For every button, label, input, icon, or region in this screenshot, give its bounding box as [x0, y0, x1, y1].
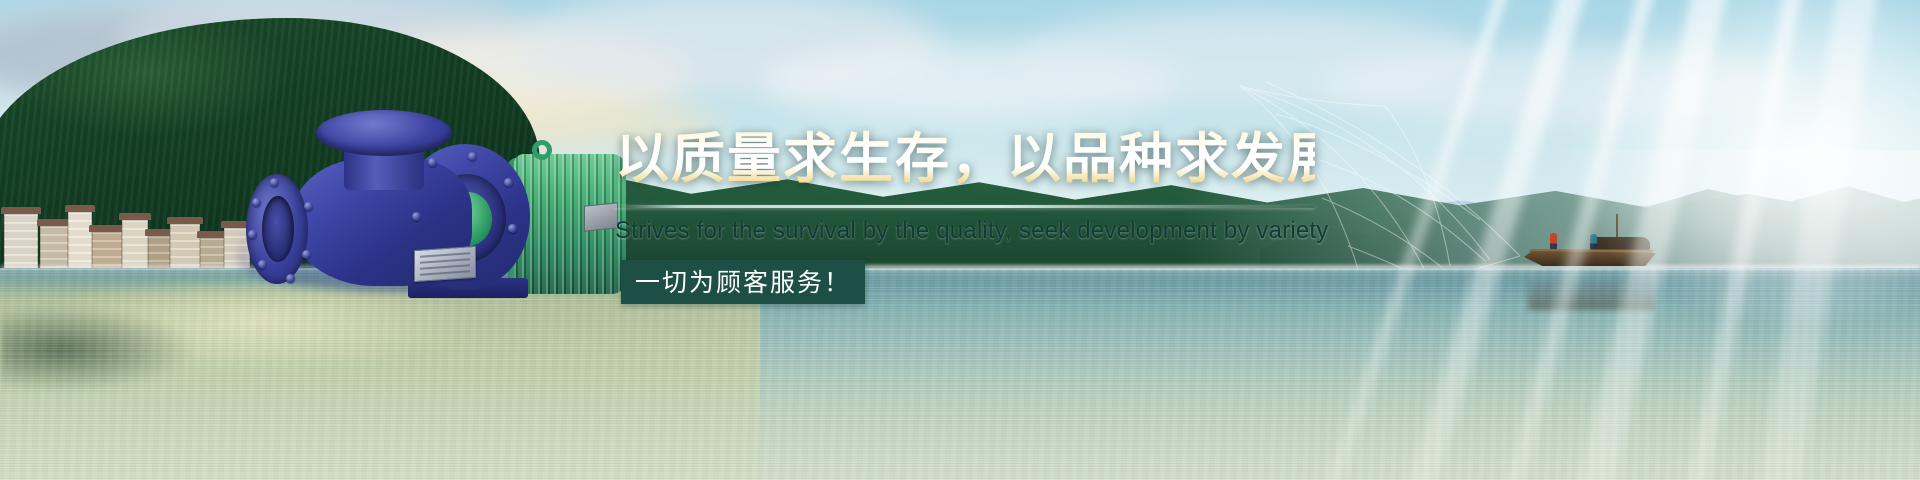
- banner-subheadline: Strives for the survival by the quality,…: [615, 217, 1315, 245]
- boat-hull: [1524, 251, 1656, 266]
- flange-bolt: [302, 250, 311, 259]
- flange-bolt: [286, 274, 295, 283]
- boat-cargo: [1592, 237, 1650, 251]
- suction-port: [262, 196, 294, 262]
- fishing-boat: [1524, 232, 1664, 278]
- pump-nameplate: [414, 246, 476, 282]
- hero-banner: 以质量求生存，以品种求发展 Strives for the survival b…: [0, 0, 1920, 480]
- flange-bolt: [252, 198, 261, 207]
- volute-bolt: [412, 212, 421, 221]
- volute-bolt: [504, 178, 513, 187]
- centrifugal-pump-product: [232, 96, 582, 296]
- motor-junction-box: [584, 202, 618, 232]
- flange-bolt: [304, 202, 313, 211]
- riverside-village: [0, 160, 250, 272]
- volute-bolt: [428, 158, 437, 167]
- service-slogan-badge: 一切为顾客服务！: [621, 260, 865, 304]
- flange-bolt: [248, 230, 257, 239]
- cloud: [1320, 46, 1800, 126]
- banner-text-block: 以质量求生存，以品种求发展 Strives for the survival b…: [615, 128, 1315, 304]
- fisherman-seated: [1590, 234, 1597, 251]
- discharge-flange: [316, 110, 452, 156]
- volute-bolt: [508, 224, 517, 233]
- boat-reflection: [1528, 276, 1654, 310]
- headline-divider: [615, 205, 1315, 208]
- flange-bolt: [270, 178, 279, 187]
- banner-headline: 以质量求生存，以品种求发展: [615, 128, 1315, 191]
- flange-bolt: [258, 260, 267, 269]
- volute-bolt: [468, 152, 477, 161]
